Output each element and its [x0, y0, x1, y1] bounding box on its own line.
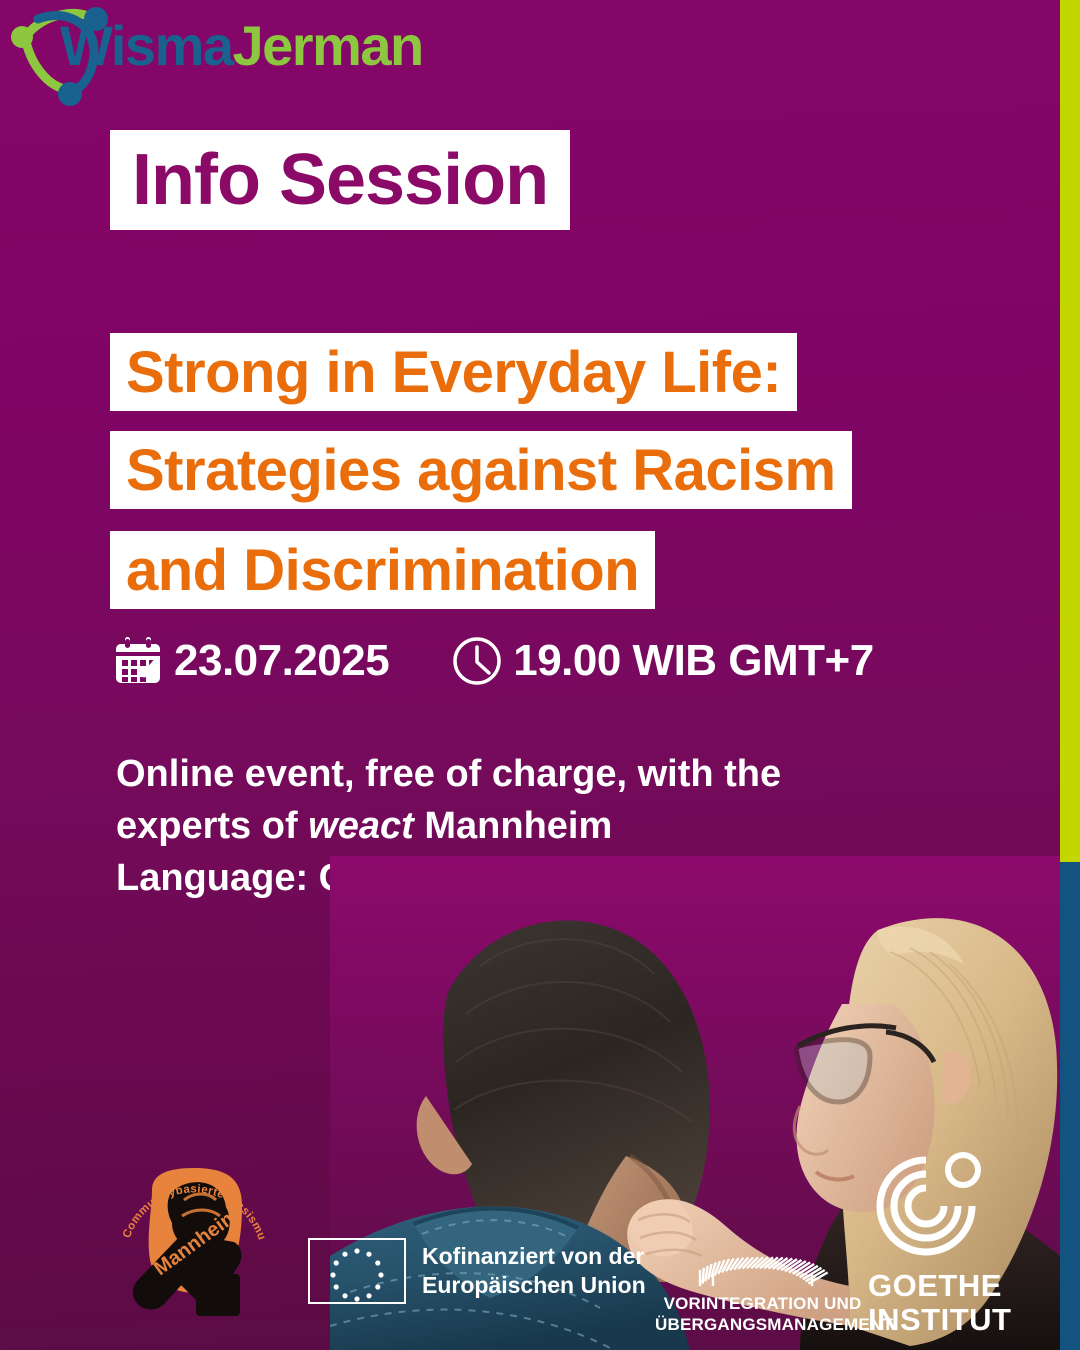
- eu-text-line-2: Europäischen Union: [422, 1271, 646, 1300]
- vorintegration-line-2: ÜBERGANGSMANAGEMENT: [655, 1314, 870, 1335]
- goethe-text: GOETHE INSTITUT: [868, 1269, 1018, 1337]
- side-stripe-green: [1060, 0, 1080, 862]
- headline-line-3: and Discrimination: [110, 531, 655, 609]
- vorintegration-text: VORINTEGRATION UND ÜBERGANGSMANAGEMENT: [655, 1293, 870, 1335]
- vorintegration-line-1: VORINTEGRATION UND: [655, 1293, 870, 1314]
- goethe-line-2: INSTITUT: [868, 1303, 1018, 1337]
- headline-text-3: and Discrimination: [126, 537, 639, 604]
- headline-text-2: Strategies against Racism: [126, 437, 836, 504]
- vorintegration-logo: VORINTEGRATION UND ÜBERGANGSMANAGEMENT: [655, 1212, 870, 1335]
- logo-jerman-text: Jerman: [233, 14, 423, 77]
- poster-canvas: WismaJerman Info Session Strong in Every…: [0, 0, 1080, 1350]
- description-text-1: Online event, free of charge, with the: [116, 753, 781, 795]
- headline-line-2: Strategies against Racism: [110, 431, 852, 509]
- side-stripe-blue: [1060, 862, 1080, 1350]
- arch-rays-icon: [655, 1212, 870, 1286]
- event-date-group: 23.07.2025: [112, 635, 389, 687]
- wisma-jerman-logo[interactable]: WismaJerman: [8, 6, 388, 92]
- description-text-2b: Mannheim: [414, 805, 612, 847]
- headline-line-1: Strong in Everyday Life:: [110, 333, 797, 411]
- eu-cofunding-logo: Kofinanziert von der Europäischen Union: [308, 1238, 646, 1304]
- description-text-2a: experts of: [116, 805, 308, 847]
- eu-text-line-1: Kofinanziert von der: [422, 1242, 646, 1271]
- event-time-text: 19.00 WIB GMT+7: [513, 636, 874, 686]
- description-line-1: Online event, free of charge, with the: [116, 748, 936, 800]
- kicker-badge: Info Session: [110, 130, 570, 230]
- raised-fist-icon: Communitybasierte rassismuskritische Ber…: [108, 1148, 280, 1320]
- goethe-spiral-icon: [868, 1146, 996, 1258]
- eu-flag: [308, 1238, 406, 1304]
- event-time-group: 19.00 WIB GMT+7: [451, 635, 874, 687]
- event-date-text: 23.07.2025: [174, 636, 389, 686]
- headline-text-1: Strong in Everyday Life:: [126, 339, 781, 406]
- weact-mannheim-logo[interactable]: Communitybasierte rassismuskritische Ber…: [108, 1148, 280, 1320]
- side-stripe: [1060, 0, 1080, 1350]
- description-line-2: experts of weact Mannheim: [116, 800, 936, 852]
- goethe-institut-logo[interactable]: GOETHE INSTITUT: [868, 1146, 1018, 1337]
- kicker-text: Info Session: [132, 139, 548, 221]
- logo-wisma-text: Wisma: [60, 14, 233, 77]
- eu-stars-icon: [310, 1240, 404, 1302]
- eu-text: Kofinanziert von der Europäischen Union: [422, 1242, 646, 1300]
- event-meta-row: 23.07.2025 19.00 WIB GMT+7: [112, 632, 874, 690]
- goethe-line-1: GOETHE: [868, 1269, 1018, 1303]
- logo-wordmark: WismaJerman: [60, 14, 423, 78]
- clock-icon: [451, 635, 503, 687]
- calendar-icon: [112, 635, 164, 687]
- description-weact: weact: [308, 805, 414, 847]
